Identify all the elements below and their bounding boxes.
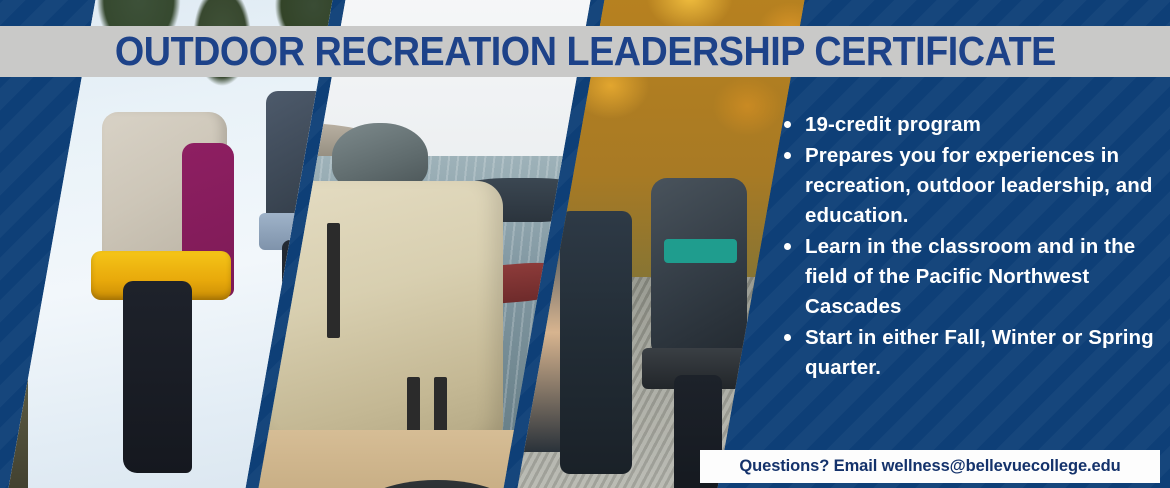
life-vest [268, 181, 503, 457]
title-band: OUTDOOR RECREATION LEADERSHIP CERTIFICAT… [0, 26, 1170, 77]
hiker-foreground [647, 178, 769, 488]
list-item: Learn in the classroom and in the field … [779, 232, 1155, 322]
teal-pack-strap [664, 239, 737, 263]
hiker-with-tan-backpack [91, 112, 266, 488]
list-item: Start in either Fall, Winter or Spring q… [779, 323, 1155, 383]
contact-bar[interactable]: Questions? Email wellness@bellevuecolleg… [700, 450, 1160, 483]
list-item-label: Prepares you for experiences in recreati… [805, 144, 1153, 227]
large-backpack [651, 178, 746, 355]
list-item: 19-credit program [779, 110, 1155, 140]
contact-email-text[interactable]: Questions? Email wellness@bellevuecolleg… [739, 457, 1120, 476]
program-highlights-list: 19-credit program Prepares you for exper… [779, 110, 1155, 384]
hiker-foreground-left [3, 255, 27, 488]
hiker-middle [560, 211, 632, 474]
list-item-label: Learn in the classroom and in the field … [805, 235, 1135, 318]
bullet-dot-icon [784, 152, 791, 159]
vest-strap [327, 223, 340, 338]
bullet-dot-icon [784, 121, 791, 128]
outdoor-recreation-banner: OUTDOOR RECREATION LEADERSHIP CERTIFICAT… [0, 0, 1170, 488]
hiker-legs [123, 281, 193, 473]
bullet-dot-icon [784, 243, 791, 250]
list-item-label: Start in either Fall, Winter or Spring q… [805, 326, 1154, 379]
list-item-label: 19-credit program [805, 113, 981, 136]
list-item: Prepares you for experiences in recreati… [779, 141, 1155, 231]
page-title: OUTDOOR RECREATION LEADERSHIP CERTIFICAT… [115, 31, 1056, 72]
bullet-dot-icon [784, 334, 791, 341]
